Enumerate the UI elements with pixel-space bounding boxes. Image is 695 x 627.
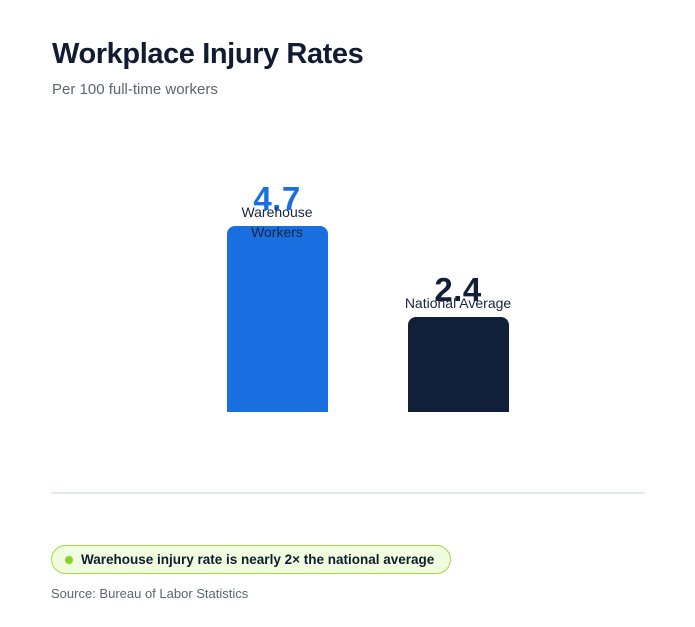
- insight-callout-pill: Warehouse injury rate is nearly 2× the n…: [51, 545, 451, 574]
- section-divider: [51, 492, 645, 494]
- bar-group-warehouse-workers: 4.7 Warehouse Workers: [192, 180, 362, 412]
- bar-category-label-warehouse-workers: Warehouse Workers: [187, 202, 367, 242]
- bar-chart-plot-area: 4.7 Warehouse Workers 2.4 National Avera…: [0, 150, 695, 470]
- chart-header: Workplace Injury Rates Per 100 full-time…: [52, 36, 363, 100]
- bar-national-average[interactable]: [408, 317, 509, 412]
- bar-category-label-national-average: National Average: [368, 293, 548, 313]
- chart-subtitle: Per 100 full-time workers: [52, 80, 363, 100]
- bar-group-national-average: 2.4 National Average: [373, 271, 543, 412]
- bar-warehouse-workers[interactable]: [227, 226, 328, 412]
- bar-category-label-line1: Warehouse: [187, 202, 367, 222]
- chart-canvas: Workplace Injury Rates Per 100 full-time…: [0, 0, 695, 627]
- bar-category-label-line2: Workers: [187, 222, 367, 242]
- page-title: Workplace Injury Rates: [52, 36, 363, 72]
- source-note: Source: Bureau of Labor Statistics: [51, 585, 248, 603]
- bar-category-label-line1: National Average: [368, 293, 548, 313]
- bullet-dot-icon: [65, 556, 73, 564]
- insight-callout-text: Warehouse injury rate is nearly 2× the n…: [81, 552, 434, 568]
